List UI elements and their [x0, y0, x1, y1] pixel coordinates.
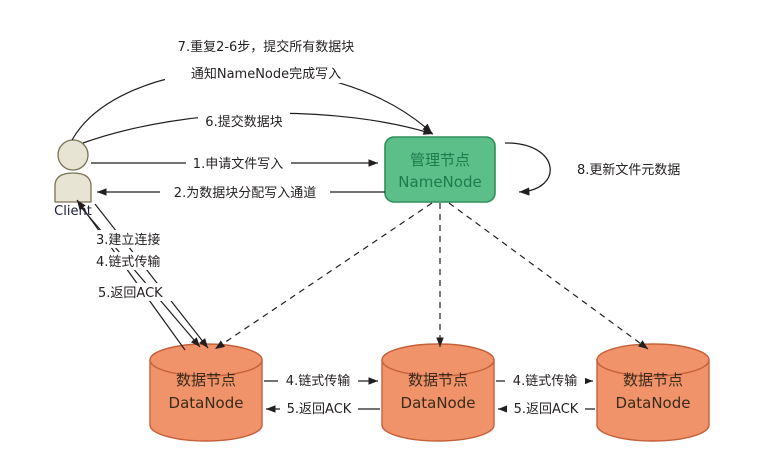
edge-step5-dn2-label: 5.返回ACK: [514, 402, 579, 417]
namenode-label-cn: 管理节点: [410, 151, 470, 169]
node-client[interactable]: Client: [54, 140, 92, 219]
edge-step3-label: 3.建立连接: [96, 232, 160, 248]
edge-step4-client-label: 4.链式传输: [96, 254, 160, 270]
client-body-icon: [55, 173, 91, 202]
diagram-canvas: Client 管理节点 NameNode 数据节点 DataNode 数据节点 …: [0, 0, 780, 467]
datanode-3-label-en: DataNode: [616, 394, 691, 412]
edge-step8-label: 8.更新文件元数据: [577, 162, 680, 178]
edge-step5-client-arrow: [77, 200, 185, 350]
edge-step4-dn1-label: 4.链式传输: [286, 373, 350, 389]
edge-step7-label-line1: 7.重复2-6步，提交所有数据块: [178, 39, 355, 55]
datanode-2-label-cn: 数据节点: [408, 371, 468, 389]
edge-namenode-to-datanode-3: [449, 203, 648, 349]
namenode-label-en: NameNode: [398, 173, 481, 191]
edge-step3-arrow: [80, 206, 200, 347]
datanode-3-label-cn: 数据节点: [623, 371, 683, 389]
node-datanode-2[interactable]: 数据节点 DataNode: [382, 344, 494, 441]
edge-step5-dn1-label: 5.返回ACK: [287, 402, 352, 417]
edge-step8-arrow: [505, 143, 550, 192]
edge-step5-client-label: 5.返回ACK: [98, 286, 163, 301]
node-namenode[interactable]: 管理节点 NameNode: [385, 137, 495, 202]
node-datanode-3[interactable]: 数据节点 DataNode: [597, 344, 709, 441]
edge-step4-dn2-label: 4.链式传输: [513, 373, 577, 389]
edge-step6-label: 6.提交数据块: [205, 114, 282, 130]
datanode-1-label-en: DataNode: [169, 394, 244, 412]
edge-namenode-to-datanode-1: [215, 203, 432, 349]
edge-step2-label: 2.为数据块分配写入通道: [174, 186, 316, 201]
edge-step1-label: 1.申请文件写入: [193, 157, 283, 172]
edge-step4-client-arrow: [95, 204, 208, 348]
datanode-2-label-en: DataNode: [401, 394, 476, 412]
datanode-1-label-cn: 数据节点: [176, 371, 236, 389]
edge-step7-label-line2: 通知NameNode完成写入: [191, 66, 341, 82]
node-datanode-1[interactable]: 数据节点 DataNode: [150, 344, 262, 441]
client-label: Client: [54, 204, 92, 219]
namenode-shape: [385, 137, 495, 202]
client-head-icon: [58, 140, 88, 170]
